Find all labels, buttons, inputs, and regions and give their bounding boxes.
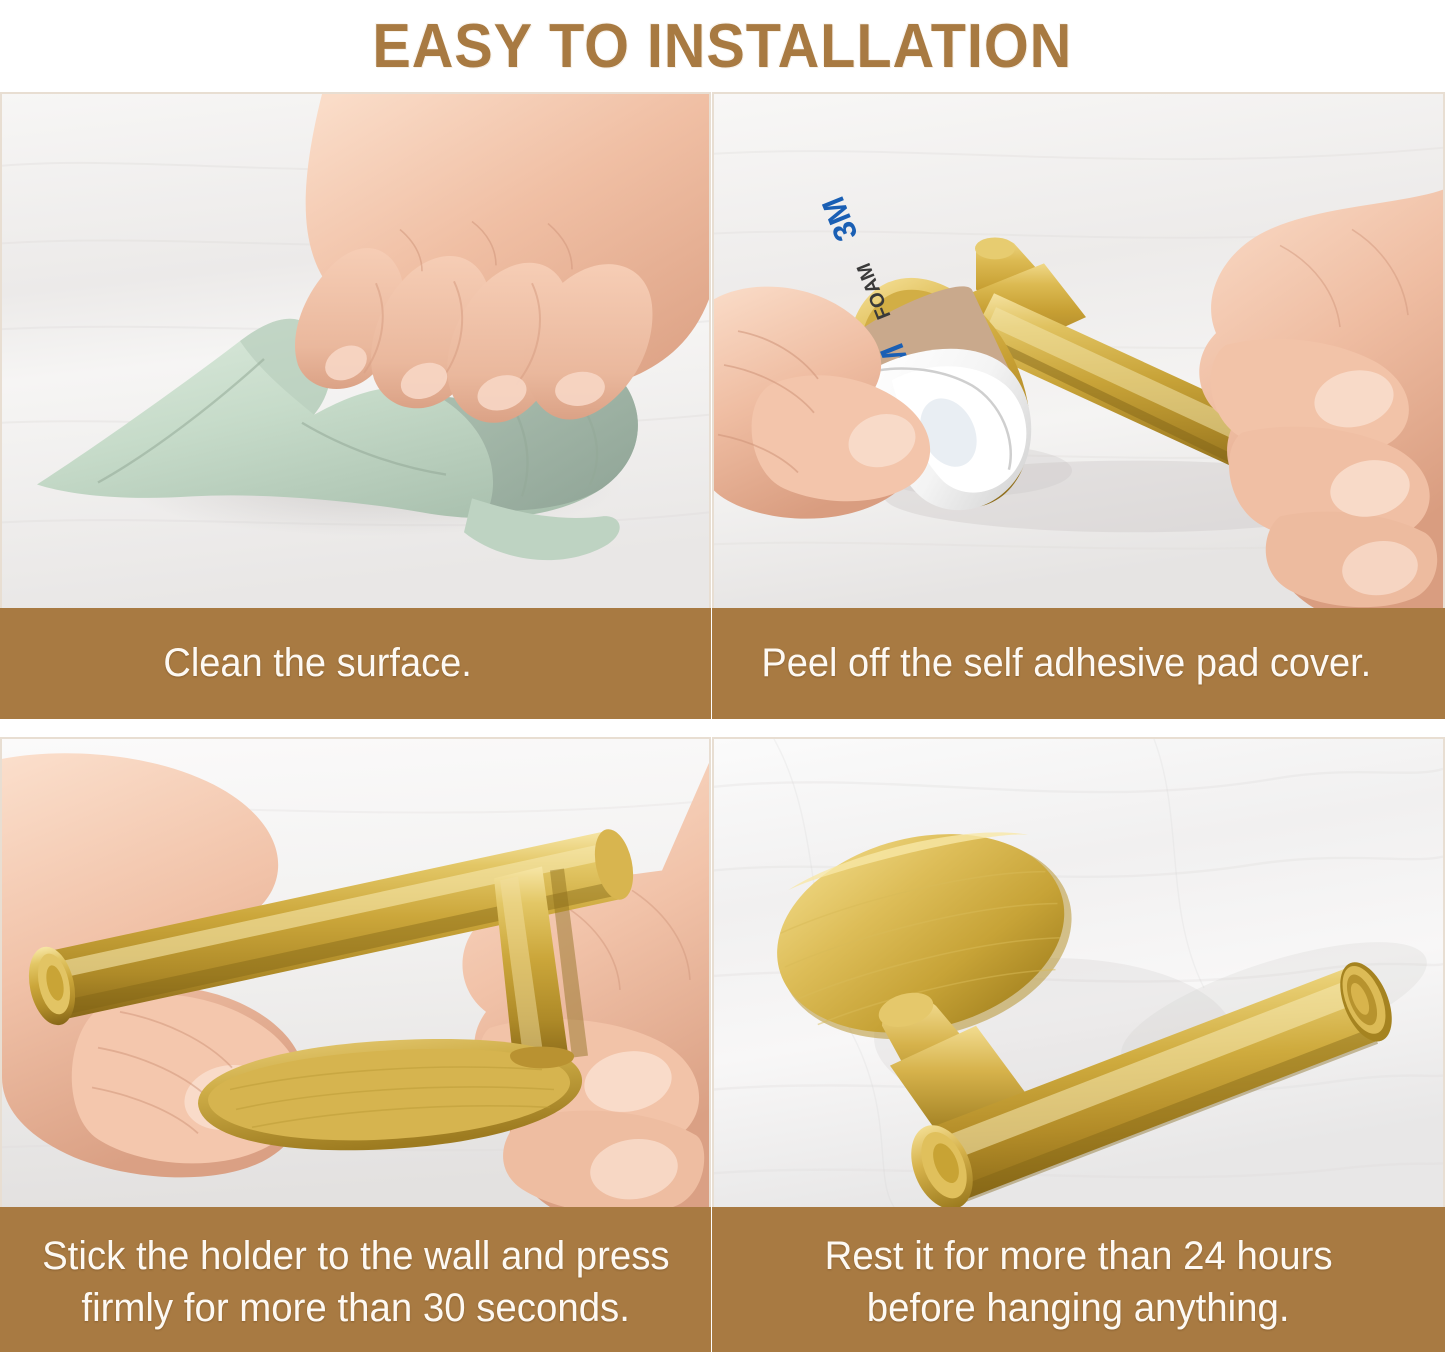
infographic-sheet: EASY TO INSTALLATION [0, 0, 1445, 1358]
step-3-photo [0, 737, 711, 1207]
scene-press-holder-to-wall [2, 739, 709, 1207]
step-4-caption: Rest it for more than 24 hours before ha… [712, 1207, 1445, 1358]
scene-peel-adhesive-pad: 3M FOAM 3M [714, 94, 1443, 608]
steps-grid: Clean the surface. [0, 92, 1445, 1358]
step-3-caption: Stick the holder to the wall and press f… [0, 1207, 711, 1358]
step-card-1: Clean the surface. [0, 92, 711, 719]
step-4-photo [712, 737, 1445, 1207]
step-1-caption-line-1: Clean the surface. [0, 641, 472, 686]
step-card-3: Stick the holder to the wall and press f… [0, 737, 711, 1358]
page-title-bar: EASY TO INSTALLATION [0, 0, 1445, 92]
step-1-photo [0, 92, 711, 608]
row-gutter [0, 719, 1445, 737]
step-2-caption-line-1: Peel off the self adhesive pad cover. [712, 641, 1371, 686]
scene-clean-the-surface [2, 94, 709, 608]
step-card-4: Rest it for more than 24 hours before ha… [712, 737, 1445, 1358]
bottom-white-strip [0, 1352, 1445, 1358]
step-3-caption-line-2: firmly for more than 30 seconds. [81, 1283, 630, 1334]
step-card-2: 3M FOAM 3M [712, 92, 1445, 719]
step-2-photo: 3M FOAM 3M [712, 92, 1445, 608]
step-4-caption-line-1: Rest it for more than 24 hours [825, 1231, 1333, 1282]
step-1-caption: Clean the surface. [0, 608, 711, 719]
step-2-caption: Peel off the self adhesive pad cover. [712, 608, 1445, 719]
step-3-caption-line-1: Stick the holder to the wall and press [42, 1231, 670, 1282]
step-4-caption-line-2: before hanging anything. [867, 1283, 1290, 1334]
page-title: EASY TO INSTALLATION [373, 11, 1073, 82]
scene-installed-holder [714, 739, 1443, 1207]
